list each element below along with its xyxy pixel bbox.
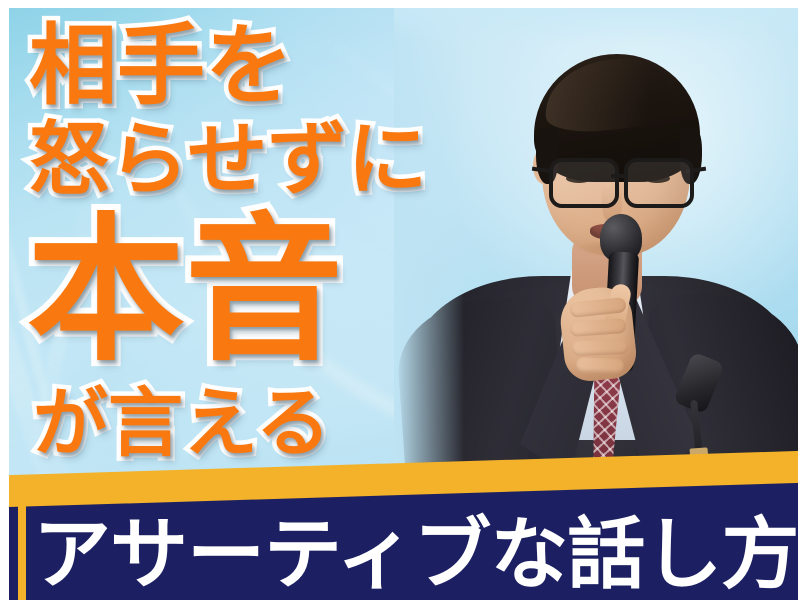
headline-line-2: 怒らせずに: [29, 120, 427, 200]
gold-left-edge-accent: [18, 504, 26, 600]
bottom-banner-title: アサーティブな話し方: [33, 516, 800, 594]
headline-line-4: が言える: [33, 386, 331, 461]
glasses-lens-left: [549, 158, 619, 208]
headline-line-3-emphasis: 本音: [27, 212, 343, 370]
poster-inner-frame: 相手を 怒らせずに 本音 が言える アサーティブな話し方: [9, 8, 800, 600]
poster-canvas: 相手を 怒らせずに 本音 が言える アサーティブな話し方: [0, 0, 800, 600]
frame-border-top: [0, 0, 800, 8]
glasses-lens-right: [624, 158, 694, 208]
headline-line-1: 相手を: [29, 22, 293, 110]
glasses-bridge: [611, 174, 624, 178]
photo-edge-fade-top: [394, 8, 800, 44]
finger: [576, 357, 624, 374]
photo-edge-fade-left: [394, 8, 464, 538]
finger: [572, 339, 628, 356]
frame-border-left: [0, 0, 9, 600]
